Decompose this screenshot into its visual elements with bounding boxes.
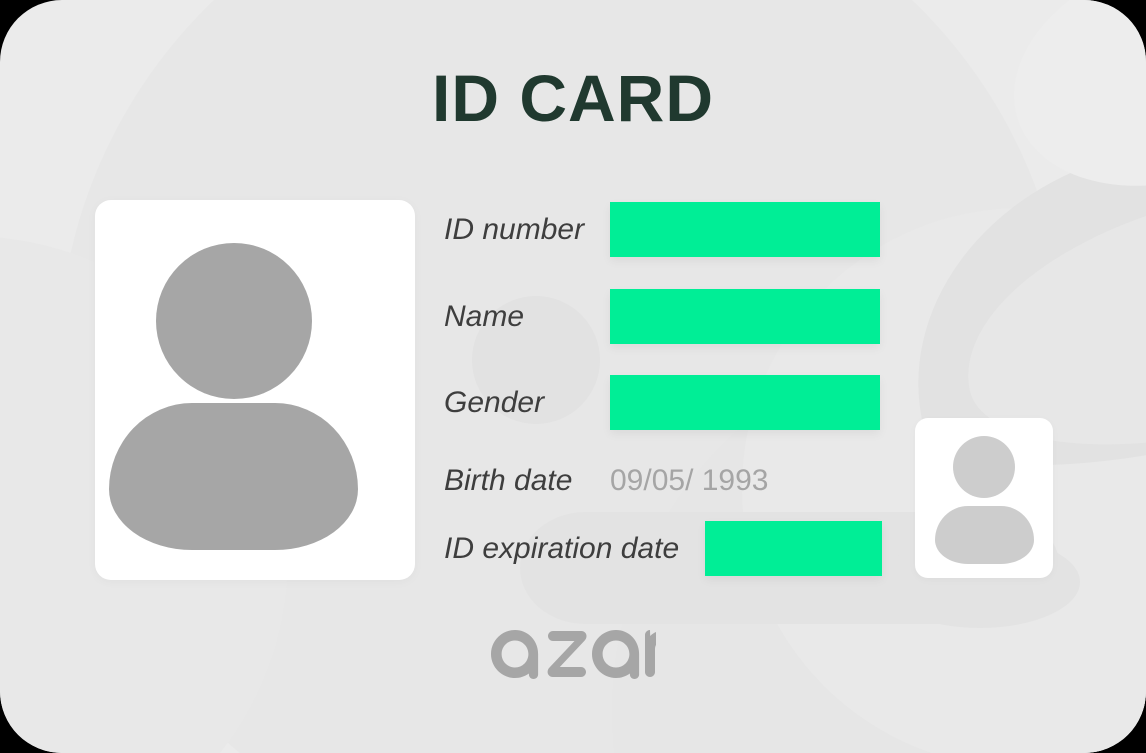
page-title: ID CARD [0,62,1146,135]
azar-wordmark-icon [490,624,656,680]
field-value-redacted-expiration-date [705,521,882,576]
person-avatar-icon-head-small [953,436,1015,498]
field-label-name: Name [444,302,524,332]
field-value-redacted-gender [610,375,880,430]
field-label-gender: Gender [444,388,544,418]
field-value-redacted-name [610,289,880,344]
field-label-expiration-date: ID expiration date [444,534,679,564]
field-label-birth-date: Birth date [444,466,572,496]
person-avatar-icon-head [156,243,312,399]
field-value-birth-date: 09/05/ 1993 [610,466,768,496]
field-value-redacted-id-number [610,202,880,257]
field-row-gender: Gender [444,375,544,431]
field-row-birth-date: Birth date [444,453,572,509]
id-photo-secondary[interactable] [915,418,1053,578]
brand-logo-azar [0,624,1146,685]
field-row-name: Name [444,289,524,345]
field-row-id-number: ID number [444,202,584,258]
field-row-expiration-date: ID expiration date [444,521,679,577]
field-label-id-number: ID number [444,215,584,245]
person-avatar-icon-body-small [935,506,1034,564]
person-avatar-icon-body [109,403,358,550]
id-photo-main[interactable] [95,200,415,580]
id-card: ID CARD ID number Name Gender Birth date… [0,0,1146,753]
